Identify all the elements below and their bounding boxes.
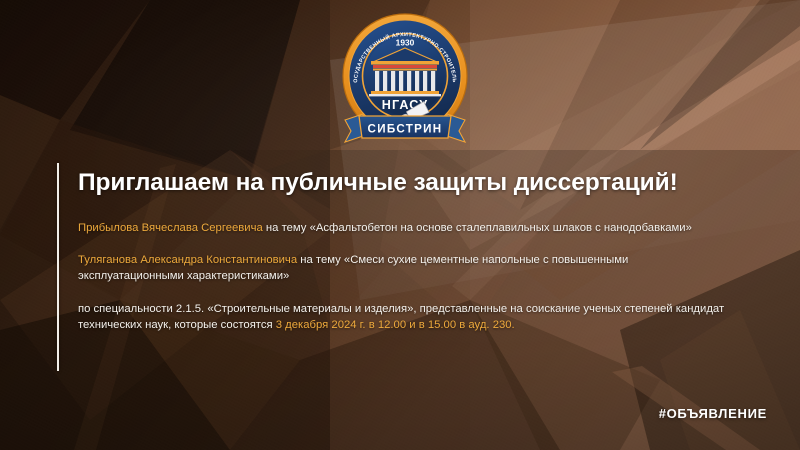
announcement-poster: НОВОСИБИРСКИЙ ГОСУДАРСТВЕННЫЙ АРХИТЕКТУР… xyxy=(0,0,800,450)
poster-content: Приглашаем на публичные защиты диссертац… xyxy=(78,168,728,334)
candidate-name-2: Туляганова Александра Константиновича xyxy=(78,254,297,266)
defense-entry-1: Прибылова Вячеслава Сергеевича на тему «… xyxy=(78,221,728,237)
ngasu-sibstrin-logo: НОВОСИБИРСКИЙ ГОСУДАРСТВЕННЫЙ АРХИТЕКТУР… xyxy=(337,10,473,144)
page-title: Приглашаем на публичные защиты диссертац… xyxy=(78,168,728,197)
defense-datetime: 3 декабря 2024 г. в 12.00 и в 15.00 в ау… xyxy=(276,319,515,331)
defense-details: по специальности 2.1.5. «Строительные ма… xyxy=(78,302,728,334)
candidate-name-1: Прибылова Вячеслава Сергеевича xyxy=(78,222,263,234)
logo-banner-text: СИБСТРИН xyxy=(368,123,443,136)
logo-year: 1930 xyxy=(396,38,415,48)
logo-banner: СИБСТРИН xyxy=(345,114,465,142)
defense-entry-2: Туляганова Александра Константиновича на… xyxy=(78,253,728,285)
hashtag-label: #ОБЪЯВЛЕНИЕ xyxy=(659,406,767,421)
accent-vertical-rule xyxy=(57,163,59,371)
logo-emblem-svg: НОВОСИБИРСКИЙ ГОСУДАРСТВЕННЫЙ АРХИТЕКТУР… xyxy=(337,10,473,144)
dissertation-topic-1: на тему «Асфальтобетон на основе сталепл… xyxy=(263,222,692,234)
